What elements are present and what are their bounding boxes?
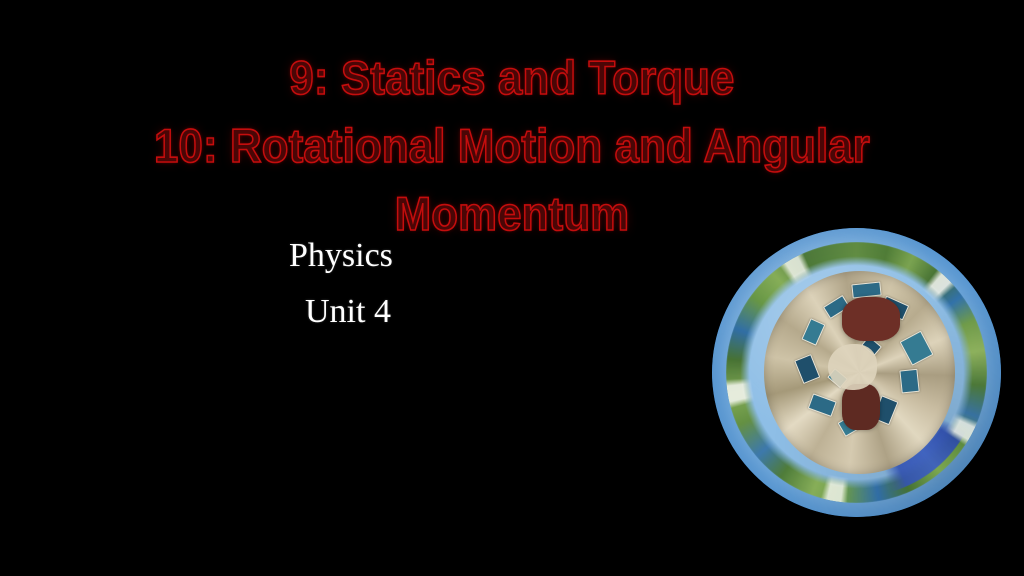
window-shape	[794, 355, 820, 385]
slide-title: 9: Statics and Torque 10: Rotational Mot…	[0, 44, 1024, 248]
subtitle-line-subject: Physics	[289, 228, 709, 284]
window-shape	[808, 393, 837, 417]
slide-subtitle: Physics Unit 4	[289, 228, 709, 340]
title-line-2: 10: Rotational Motion and Angular	[36, 112, 988, 180]
window-shape	[802, 318, 826, 345]
subtitle-line-unit: Unit 4	[289, 284, 709, 340]
courtyard-shape	[828, 344, 877, 390]
window-shape	[899, 369, 919, 394]
presentation-slide: 9: Statics and Torque 10: Rotational Mot…	[0, 0, 1024, 576]
roof-shape	[842, 297, 900, 340]
roof-shape	[842, 384, 880, 430]
title-line-1: 9: Statics and Torque	[36, 44, 988, 112]
tiny-planet-photo	[712, 228, 1001, 517]
window-shape	[900, 331, 934, 366]
